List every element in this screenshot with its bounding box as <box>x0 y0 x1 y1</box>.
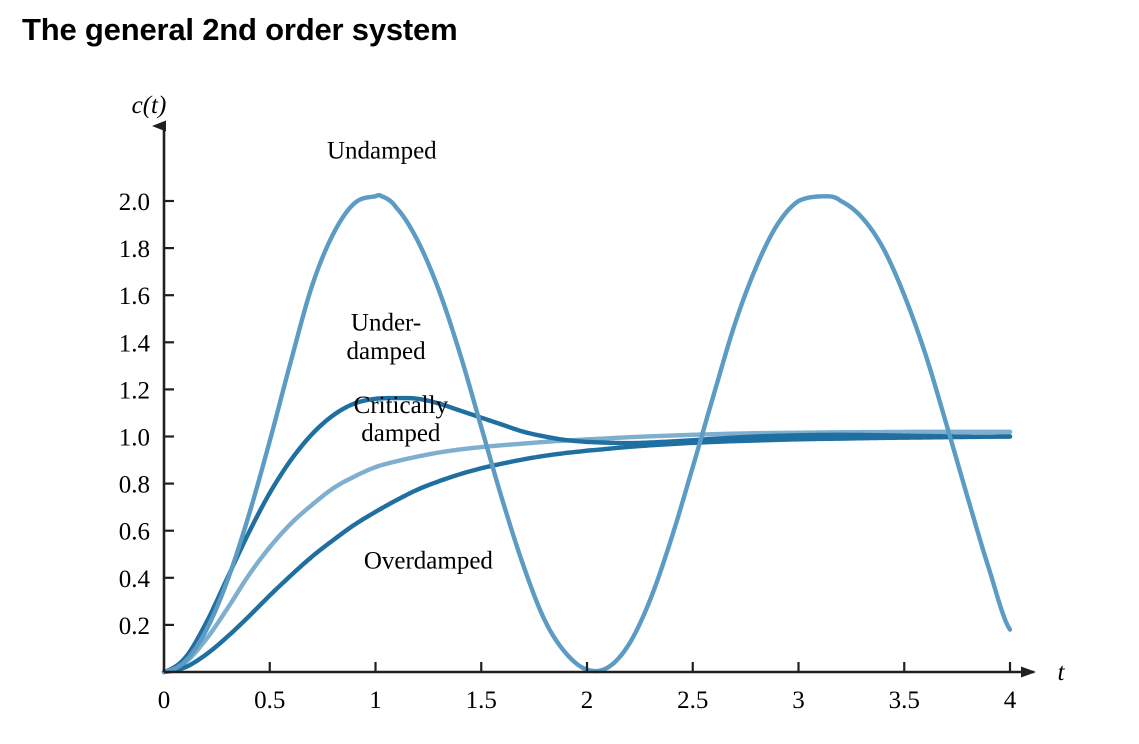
y-tick-marks <box>164 201 174 625</box>
x-tick-label: 3.5 <box>889 687 920 714</box>
label-underdamped-line2: damped <box>347 338 427 365</box>
curve-critically-damped-line <box>164 432 1010 672</box>
label-critically-damped-line2: damped <box>361 420 441 447</box>
x-tick-label: 1 <box>369 687 382 714</box>
x-tick-label: 3 <box>792 687 805 714</box>
y-tick-label: 1.0 <box>119 425 150 452</box>
label-underdamped-line1: Under- <box>351 310 421 337</box>
label-critically-damped-line1: Critically <box>354 392 449 419</box>
x-tick-label: 4 <box>1004 687 1017 714</box>
slide-canvas: The general 2nd order system <box>0 0 1139 744</box>
x-tick-label: 2 <box>581 687 594 714</box>
y-tick-label: 0.8 <box>119 472 150 499</box>
y-tick-label: 0.4 <box>119 566 151 593</box>
x-tick-label: 0 <box>158 687 171 714</box>
x-tick-labels: 00.511.522.533.54 <box>158 687 1017 714</box>
curve-overdamped-line <box>164 437 1010 673</box>
curves-group <box>164 195 1010 672</box>
y-tick-label: 1.8 <box>119 236 150 263</box>
y-tick-label: 1.6 <box>119 283 150 310</box>
x-tick-label: 1.5 <box>466 687 497 714</box>
y-axis-name: c(t) <box>132 92 167 119</box>
label-undamped: Undamped <box>327 138 437 165</box>
y-tick-labels: 0.20.40.60.81.01.21.41.61.82.0 <box>119 189 151 640</box>
axes-group <box>164 126 1034 672</box>
chart-figure: 0.20.40.60.81.01.21.41.61.82.0 00.511.52… <box>0 78 1139 744</box>
page-title: The general 2nd order system <box>22 12 457 48</box>
y-tick-label: 2.0 <box>119 189 150 216</box>
y-tick-label: 1.4 <box>119 330 151 357</box>
x-tick-label: 2.5 <box>677 687 708 714</box>
x-tick-label: 0.5 <box>254 687 285 714</box>
second-order-response-plot: 0.20.40.60.81.01.21.41.61.82.0 00.511.52… <box>0 78 1139 744</box>
label-overdamped: Overdamped <box>364 547 494 574</box>
y-tick-label: 1.2 <box>119 377 150 404</box>
x-axis-name: t <box>1058 659 1066 686</box>
y-tick-label: 0.6 <box>119 519 150 546</box>
y-tick-label: 0.2 <box>119 613 150 640</box>
x-tick-marks <box>270 662 1010 672</box>
